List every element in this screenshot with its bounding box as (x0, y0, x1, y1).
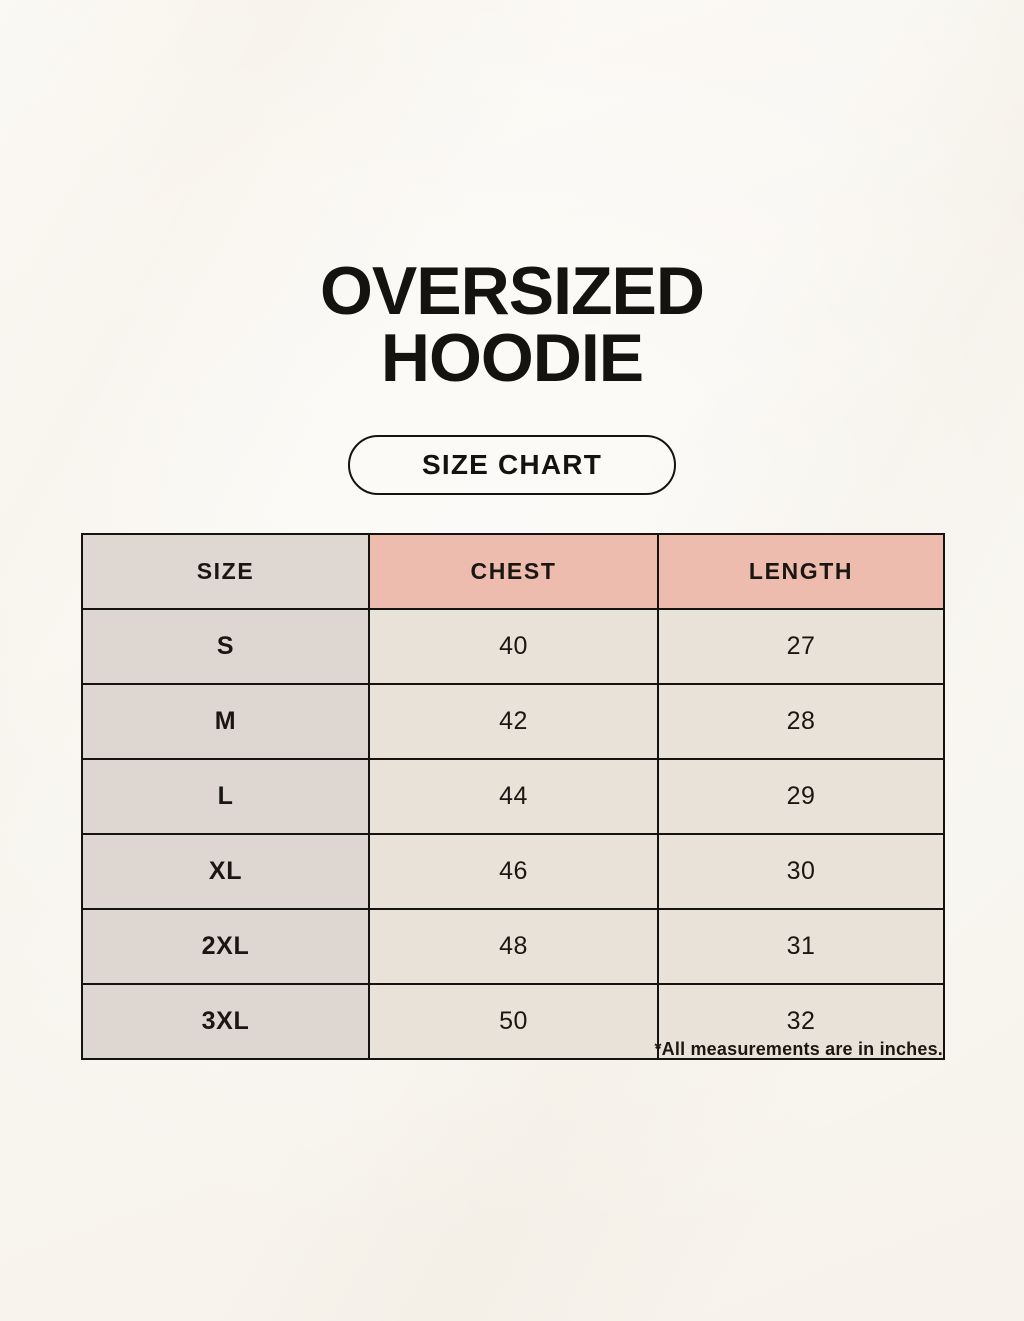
table-row: 2XL 48 31 (82, 909, 944, 984)
cell-length: 30 (658, 834, 944, 909)
column-header-chest: CHEST (369, 534, 658, 609)
size-table-head: SIZE CHEST LENGTH (82, 534, 944, 609)
cell-size: M (82, 684, 369, 759)
cell-length: 31 (658, 909, 944, 984)
table-header-row: SIZE CHEST LENGTH (82, 534, 944, 609)
table-row: XL 46 30 (82, 834, 944, 909)
measurement-units-note: *All measurements are in inches. (81, 1039, 943, 1060)
size-table-body: S 40 27 M 42 28 L 44 29 XL 46 30 (82, 609, 944, 1059)
cell-chest: 44 (369, 759, 658, 834)
cell-size: S (82, 609, 369, 684)
title-line-1: OVERSIZED (0, 258, 1024, 325)
size-chart-badge-wrapper: SIZE CHART (0, 435, 1024, 495)
table-row: S 40 27 (82, 609, 944, 684)
size-chart-badge: SIZE CHART (348, 435, 676, 495)
page-title: OVERSIZED HOODIE (0, 258, 1024, 391)
cell-length: 27 (658, 609, 944, 684)
table-row: L 44 29 (82, 759, 944, 834)
cell-length: 28 (658, 684, 944, 759)
column-header-length: LENGTH (658, 534, 944, 609)
cell-chest: 48 (369, 909, 658, 984)
cell-size: L (82, 759, 369, 834)
cell-length: 29 (658, 759, 944, 834)
size-table: SIZE CHEST LENGTH S 40 27 M 42 28 L (81, 533, 945, 1060)
cell-chest: 40 (369, 609, 658, 684)
cell-chest: 46 (369, 834, 658, 909)
title-line-2: HOODIE (0, 325, 1024, 392)
size-table-wrapper: SIZE CHEST LENGTH S 40 27 M 42 28 L (81, 533, 943, 1060)
column-header-size: SIZE (82, 534, 369, 609)
cell-size: 2XL (82, 909, 369, 984)
size-chart-page: OVERSIZED HOODIE SIZE CHART SIZE CHEST L… (0, 0, 1024, 1321)
table-row: M 42 28 (82, 684, 944, 759)
cell-chest: 42 (369, 684, 658, 759)
cell-size: XL (82, 834, 369, 909)
